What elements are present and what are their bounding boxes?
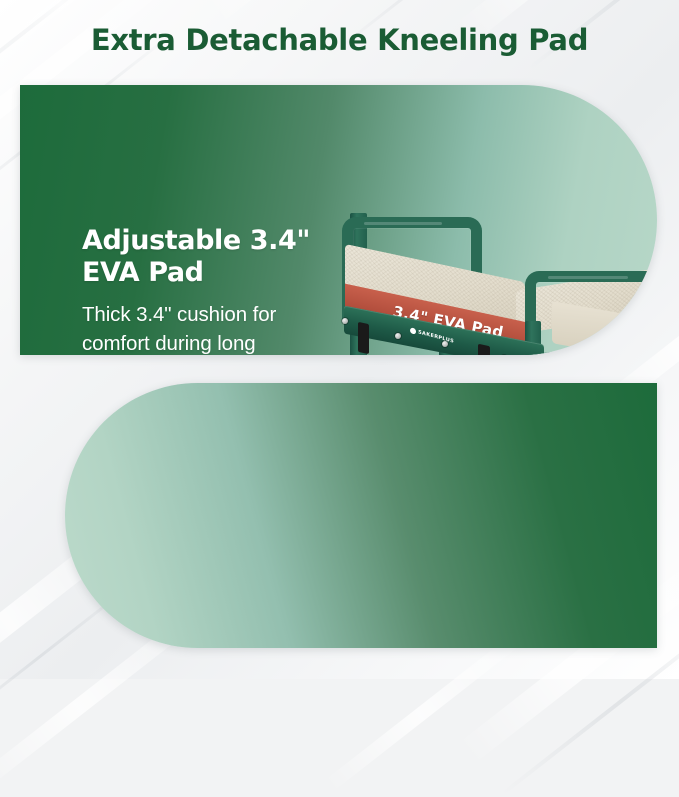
frame-arm-highlight (548, 276, 628, 279)
page-title: Extra Detachable Kneeling Pad (0, 23, 679, 57)
feature-panel-detachable-design: SAKERPLUS Detachable Design Snap-off in … (65, 383, 657, 648)
pad-strap-right (478, 344, 490, 355)
brand-logo-mark (410, 327, 416, 334)
panel1-heading: Adjustable 3.4" EVA Pad (82, 225, 347, 289)
panel1-body: Thick 3.4" cushion for comfort during lo… (82, 300, 347, 355)
feature-panel-adjustable-eva-pad: 3.4" EVA Pad SAKERPLUS Adjustable 3.4" E… (20, 85, 657, 355)
rail-bolt (395, 333, 401, 339)
frame-arm-highlight (364, 222, 442, 225)
panel1-text-block: Adjustable 3.4" EVA Pad Thick 3.4" cushi… (82, 225, 347, 355)
pad-strap-left (358, 322, 369, 354)
product-image-kneeler-with-eva-pad: 3.4" EVA Pad SAKERPLUS (320, 213, 657, 355)
